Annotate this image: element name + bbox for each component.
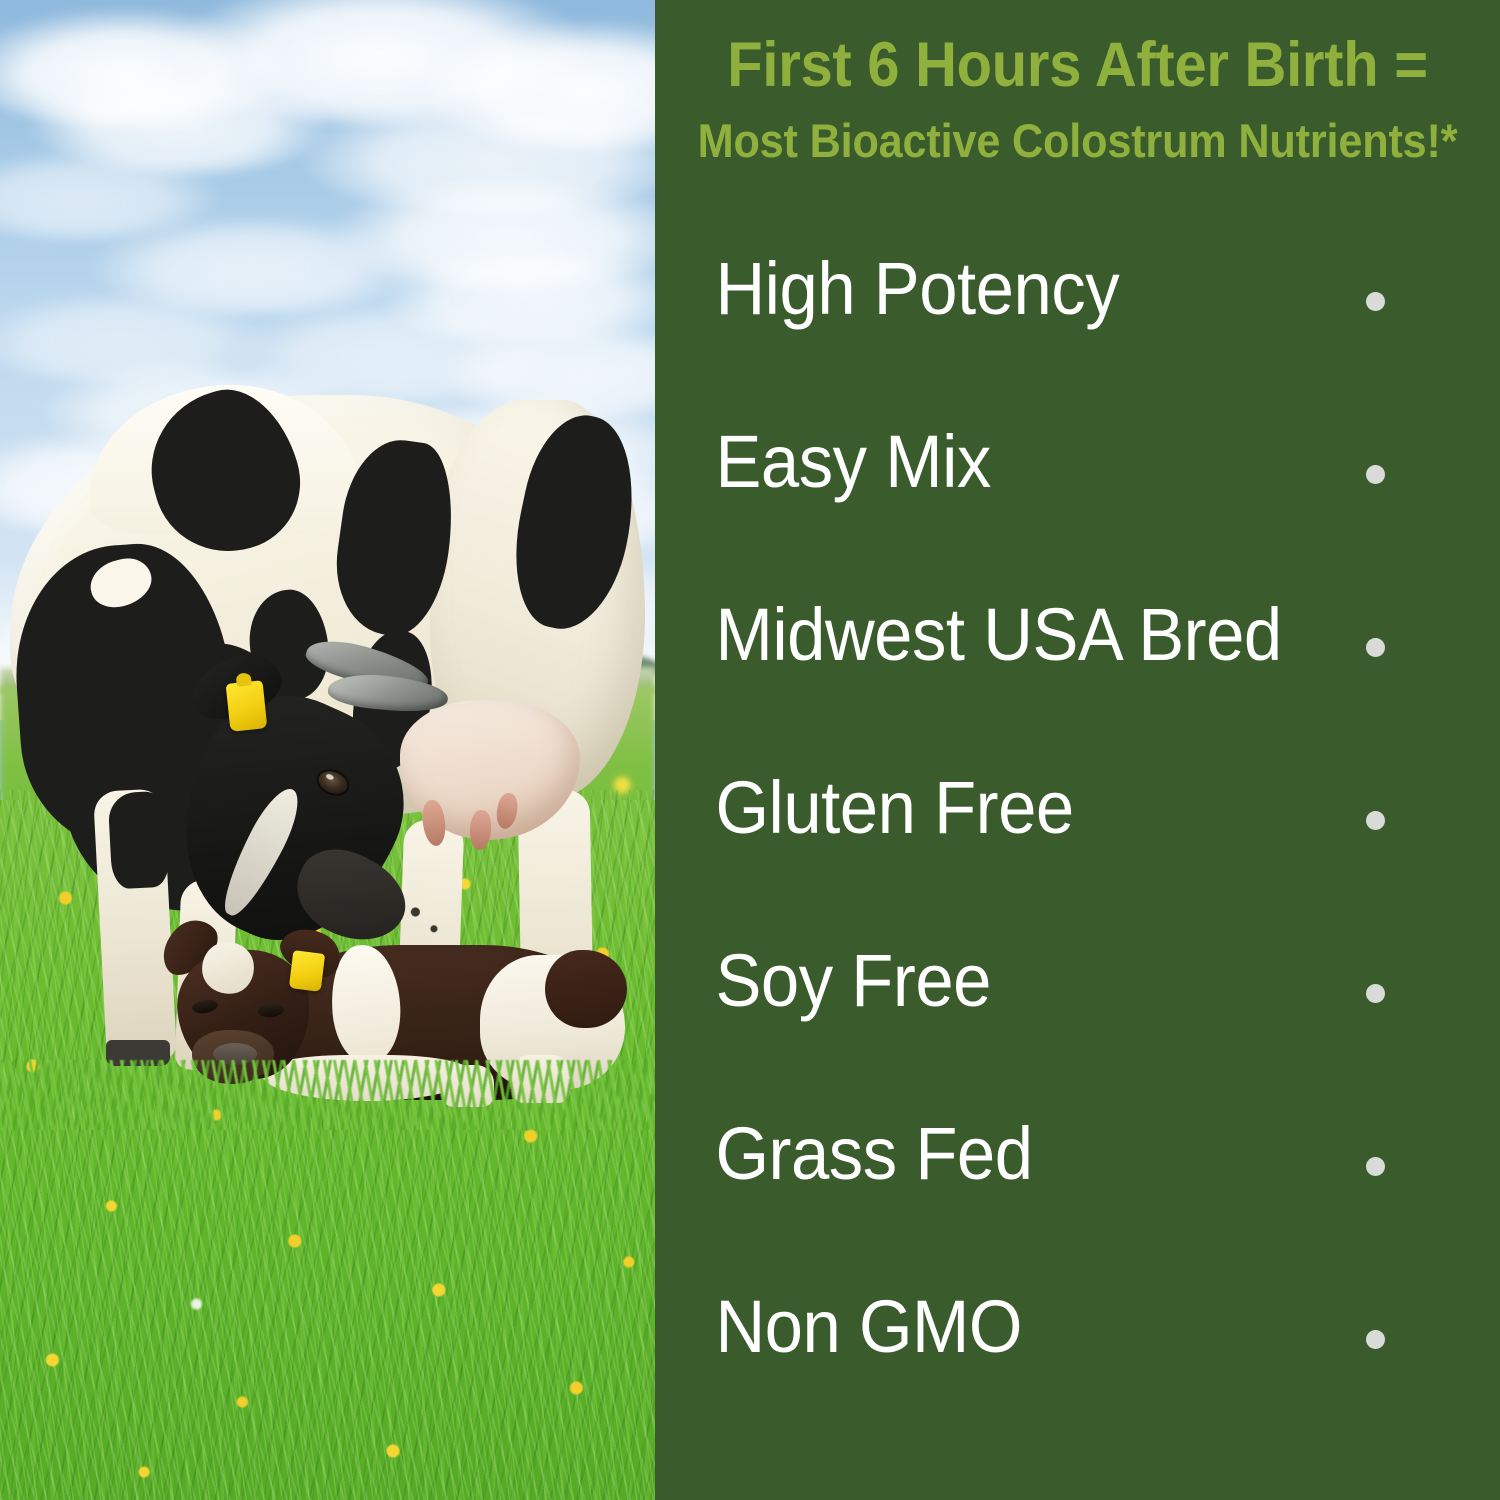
benefit-label: Gluten Free — [655, 781, 1074, 836]
benefits-list: High Potency Easy Mix Midwest USA Bred G… — [655, 262, 1500, 1473]
infographic-page: First 6 Hours After Birth = Most Bioacti… — [0, 0, 1500, 1500]
benefit-item-midwest-usa-bred: Midwest USA Bred — [655, 608, 1500, 781]
benefit-label: Grass Fed — [655, 1127, 1033, 1182]
benefit-item-high-potency: High Potency — [655, 262, 1500, 435]
calf-dark-marking — [545, 950, 627, 1028]
bullet-icon — [1366, 292, 1385, 311]
newborn-calf — [0, 0, 655, 1500]
benefits-panel: First 6 Hours After Birth = Most Bioacti… — [655, 0, 1500, 1500]
headline-line-2: Most Bioactive Colostrum Nutrients!* — [689, 117, 1466, 164]
bullet-icon — [1366, 811, 1385, 830]
benefit-label: High Potency — [655, 262, 1119, 317]
benefit-label: Soy Free — [655, 954, 991, 1009]
benefit-item-gluten-free: Gluten Free — [655, 781, 1500, 954]
benefit-label: Easy Mix — [655, 435, 991, 490]
headline-line-1: First 6 Hours After Birth = — [689, 34, 1466, 97]
cow-and-calf-photo — [0, 0, 655, 1500]
bullet-icon — [1366, 465, 1385, 484]
bullet-icon — [1366, 984, 1385, 1003]
benefit-label: Midwest USA Bred — [655, 608, 1282, 663]
benefit-item-easy-mix: Easy Mix — [655, 435, 1500, 608]
bullet-icon — [1366, 638, 1385, 657]
benefit-item-non-gmo: Non GMO — [655, 1300, 1500, 1473]
calf-ear-tag-icon — [289, 950, 325, 992]
headline: First 6 Hours After Birth = Most Bioacti… — [655, 34, 1500, 164]
benefit-item-grass-fed: Grass Fed — [655, 1127, 1500, 1300]
bullet-icon — [1366, 1330, 1385, 1349]
foreground-grass — [0, 1060, 655, 1130]
bullet-icon — [1366, 1157, 1385, 1176]
benefit-label: Non GMO — [655, 1300, 1022, 1355]
benefit-item-soy-free: Soy Free — [655, 954, 1500, 1127]
